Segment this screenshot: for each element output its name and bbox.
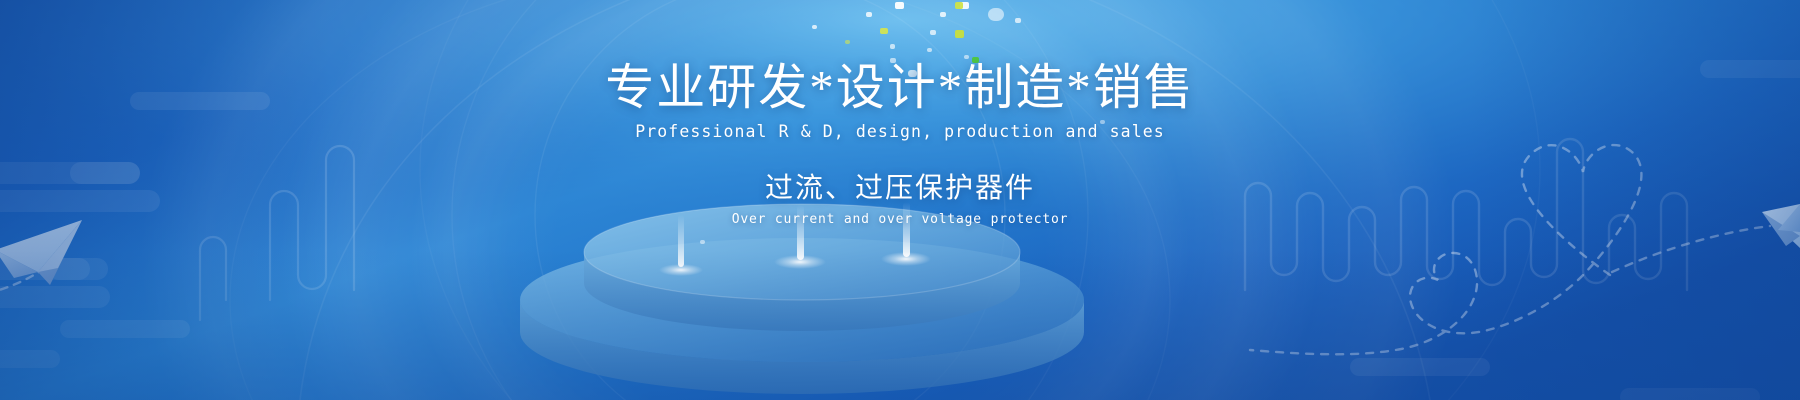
banner-subtitle-en: Over current and over voltage protector [732, 212, 1068, 227]
banner-text-block: 专业研发*设计*制造*销售 Professional R & D, design… [0, 0, 1800, 400]
banner-title-en: Professional R & D, design, production a… [635, 122, 1165, 141]
banner-title-cn: 专业研发*设计*制造*销售 [605, 62, 1195, 113]
banner-subtitle-cn: 过流、过压保护器件 [765, 166, 1035, 206]
hero-banner: 专业研发*设计*制造*销售 Professional R & D, design… [0, 0, 1800, 400]
